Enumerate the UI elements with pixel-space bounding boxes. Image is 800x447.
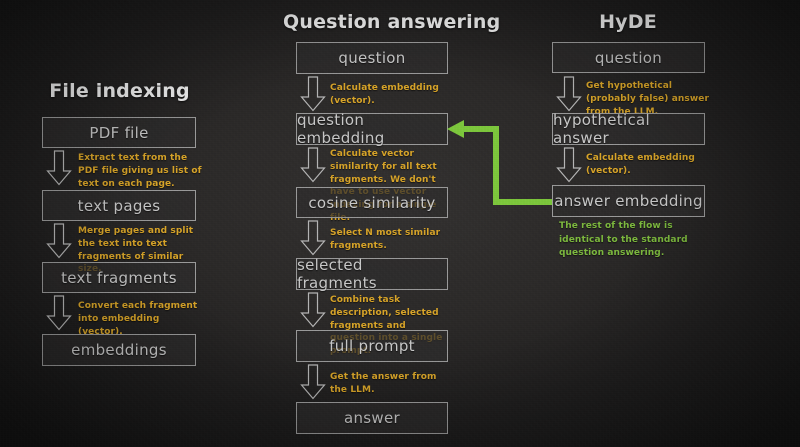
node-embeddings[interactable]: embeddings [42,334,196,366]
node-answer[interactable]: answer [296,402,448,434]
node-text-fragments[interactable]: text fragments [42,262,196,293]
note-get-answer: Get the answer from the LLM. [330,371,450,397]
note-hyde-calculate-embedding: Calculate embedding (vector). [586,152,706,178]
node-pdf-file[interactable]: PDF file [42,117,196,148]
note-extract-text: Extract text from the PDF file giving us… [78,152,203,190]
node-full-prompt[interactable]: full prompt [296,330,448,362]
connector-answer-embedding-to-question-embedding [440,112,570,212]
arrow-down-icon [300,220,326,256]
node-answer-embedding[interactable]: answer embedding [552,185,705,217]
column-title-question-answering: Question answering [283,11,463,33]
node-cosine-similarity[interactable]: cosine similarity [296,187,448,218]
node-hypothetical-answer[interactable]: hypothetical answer [552,113,705,145]
column-title-hyde: HyDE [578,11,678,33]
arrow-down-icon [46,295,72,331]
note-calculate-embedding: Calculate embedding (vector). [330,82,450,108]
arrow-down-icon [300,364,326,400]
note-convert-fragment: Convert each fragment into embedding (ve… [78,300,206,338]
node-question-embedding[interactable]: question embedding [296,113,448,145]
column-title-file-indexing: File indexing [42,80,197,102]
arrow-down-icon [300,147,326,183]
node-selected-fragments[interactable]: selected fragments [296,258,448,290]
diagram-canvas: File indexing PDF file Extract text from… [0,0,800,447]
node-question[interactable]: question [296,42,448,74]
arrow-down-icon [46,150,72,186]
note-select-n-fragments: Select N most similar fragments. [330,227,450,253]
node-text-pages[interactable]: text pages [42,190,196,221]
arrow-down-icon [556,76,582,112]
node-hyde-question[interactable]: question [552,42,705,73]
arrow-down-icon [300,292,326,328]
arrow-down-icon [300,76,326,112]
note-rest-of-flow: The rest of the flow is identical to the… [559,220,719,261]
arrow-down-icon [46,223,72,259]
